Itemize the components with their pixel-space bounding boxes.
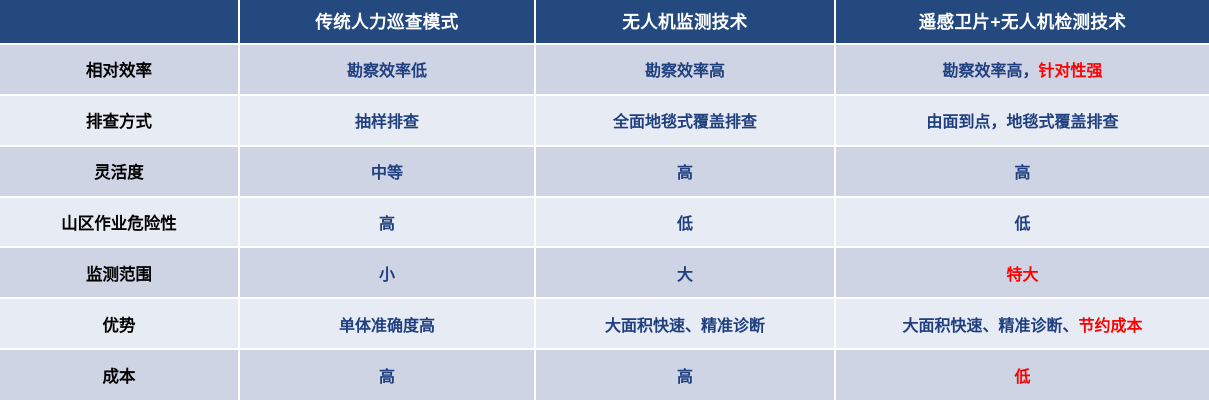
table-row: 监测范围 小 大 特大 <box>0 247 1209 298</box>
comparison-table: 传统人力巡查模式 无人机监测技术 遥感卫片+无人机检测技术 相对效率 勘察效率低… <box>0 0 1209 400</box>
header-col3: 遥感卫片+无人机检测技术 <box>835 0 1209 44</box>
row-label: 山区作业危险性 <box>0 197 239 248</box>
cell-col3-highlight: 特大 <box>1006 267 1038 284</box>
header-col2: 无人机监测技术 <box>535 0 835 44</box>
header-col1: 传统人力巡查模式 <box>239 0 535 44</box>
cell-col3-plain: 高 <box>1014 165 1030 182</box>
header-row: 传统人力巡查模式 无人机监测技术 遥感卫片+无人机检测技术 <box>0 0 1209 44</box>
cell-col2: 全面地毯式覆盖排查 <box>535 95 835 146</box>
cell-col3-plain: 大面积快速、精准诊断、 <box>902 318 1078 335</box>
cell-col3: 由面到点，地毯式覆盖排查 <box>835 95 1209 146</box>
table-body: 相对效率 勘察效率低 勘察效率高 勘察效率高，针对性强 排查方式 抽样排查 全面… <box>0 44 1209 400</box>
table-row: 成本 高 高 低 <box>0 349 1209 400</box>
row-label: 成本 <box>0 349 239 400</box>
cell-col1: 高 <box>239 197 535 248</box>
cell-col1: 抽样排查 <box>239 95 535 146</box>
cell-col3-plain: 低 <box>1014 216 1030 233</box>
cell-col3-highlight: 节约成本 <box>1079 318 1143 335</box>
table-row: 排查方式 抽样排查 全面地毯式覆盖排查 由面到点，地毯式覆盖排查 <box>0 95 1209 146</box>
cell-col3-plain: 由面到点，地毯式覆盖排查 <box>926 114 1118 131</box>
cell-col3: 低 <box>835 349 1209 400</box>
cell-col2: 高 <box>535 349 835 400</box>
row-label: 相对效率 <box>0 44 239 95</box>
cell-col3-highlight: 低 <box>1014 369 1030 386</box>
cell-col1: 勘察效率低 <box>239 44 535 95</box>
cell-col3: 特大 <box>835 247 1209 298</box>
cell-col1: 单体准确度高 <box>239 298 535 349</box>
cell-col1: 小 <box>239 247 535 298</box>
row-label: 优势 <box>0 298 239 349</box>
cell-col2: 大 <box>535 247 835 298</box>
cell-col2: 勘察效率高 <box>535 44 835 95</box>
table-header: 传统人力巡查模式 无人机监测技术 遥感卫片+无人机检测技术 <box>0 0 1209 44</box>
cell-col3: 勘察效率高，针对性强 <box>835 44 1209 95</box>
cell-col3: 低 <box>835 197 1209 248</box>
row-label: 排查方式 <box>0 95 239 146</box>
cell-col3-plain: 勘察效率高， <box>942 63 1038 80</box>
cell-col1: 高 <box>239 349 535 400</box>
cell-col2: 大面积快速、精准诊断 <box>535 298 835 349</box>
table-row: 相对效率 勘察效率低 勘察效率高 勘察效率高，针对性强 <box>0 44 1209 95</box>
table-row: 山区作业危险性 高 低 低 <box>0 197 1209 248</box>
header-corner-cell <box>0 0 239 44</box>
cell-col2: 高 <box>535 146 835 197</box>
cell-col3: 高 <box>835 146 1209 197</box>
cell-col2: 低 <box>535 197 835 248</box>
table-row: 优势 单体准确度高 大面积快速、精准诊断 大面积快速、精准诊断、节约成本 <box>0 298 1209 349</box>
table-row: 灵活度 中等 高 高 <box>0 146 1209 197</box>
cell-col3-highlight: 针对性强 <box>1039 63 1103 80</box>
cell-col3: 大面积快速、精准诊断、节约成本 <box>835 298 1209 349</box>
cell-col1: 中等 <box>239 146 535 197</box>
row-label: 灵活度 <box>0 146 239 197</box>
row-label: 监测范围 <box>0 247 239 298</box>
